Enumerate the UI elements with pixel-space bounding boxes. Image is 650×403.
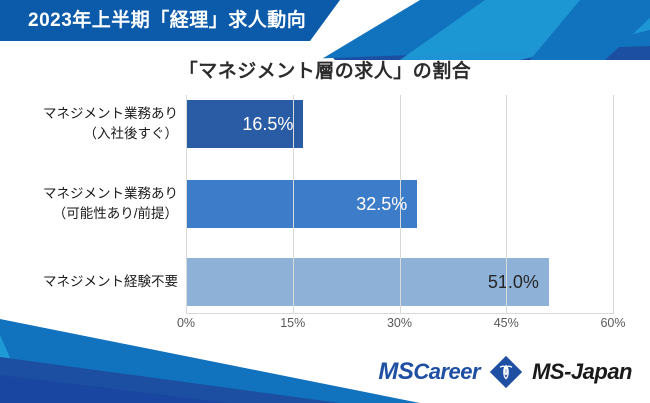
chart-title: 「マネジメント層の求人」の割合 xyxy=(0,56,650,83)
footer-logo-group: MSCareer MS-Japan xyxy=(378,355,632,389)
logo-mscareer-ms: MS xyxy=(378,358,413,385)
gridline xyxy=(506,95,507,313)
gridline xyxy=(400,95,401,313)
category-label: マネジメント業務あり（入社後すぐ） xyxy=(18,104,178,144)
diamond-logo-icon xyxy=(489,355,523,389)
gridline xyxy=(293,95,294,313)
category-label-line2: （入社後すぐ） xyxy=(18,124,178,144)
category-label-line1: マネジメント業務あり xyxy=(18,184,178,204)
logo-msjapan: MS-Japan xyxy=(532,359,632,385)
logo-mscareer: MSCareer xyxy=(378,358,480,386)
gridline xyxy=(613,95,614,313)
page-title: 2023年上半期「経理」求人動向 xyxy=(28,0,306,41)
category-label: マネジメント業務あり（可能性あり/前提） xyxy=(18,184,178,224)
decorative-corner-top-right xyxy=(280,0,650,60)
x-axis-tick-label: 60% xyxy=(600,316,625,330)
category-label-line1: マネジメント経験不要 xyxy=(18,272,178,292)
x-axis-tick-label: 45% xyxy=(494,316,519,330)
category-label: マネジメント経験不要 xyxy=(18,272,178,292)
category-label-line1: マネジメント業務あり xyxy=(18,104,178,124)
chart-plot-area xyxy=(186,95,613,313)
x-axis-tick-label: 30% xyxy=(387,316,412,330)
x-axis-tick-label: 15% xyxy=(280,316,305,330)
x-axis-line xyxy=(186,313,614,314)
gridline xyxy=(186,95,187,313)
category-label-line2: （可能性あり/前提） xyxy=(18,204,178,224)
x-axis-tick-label: 0% xyxy=(177,316,195,330)
logo-mscareer-career: Career xyxy=(413,359,480,384)
